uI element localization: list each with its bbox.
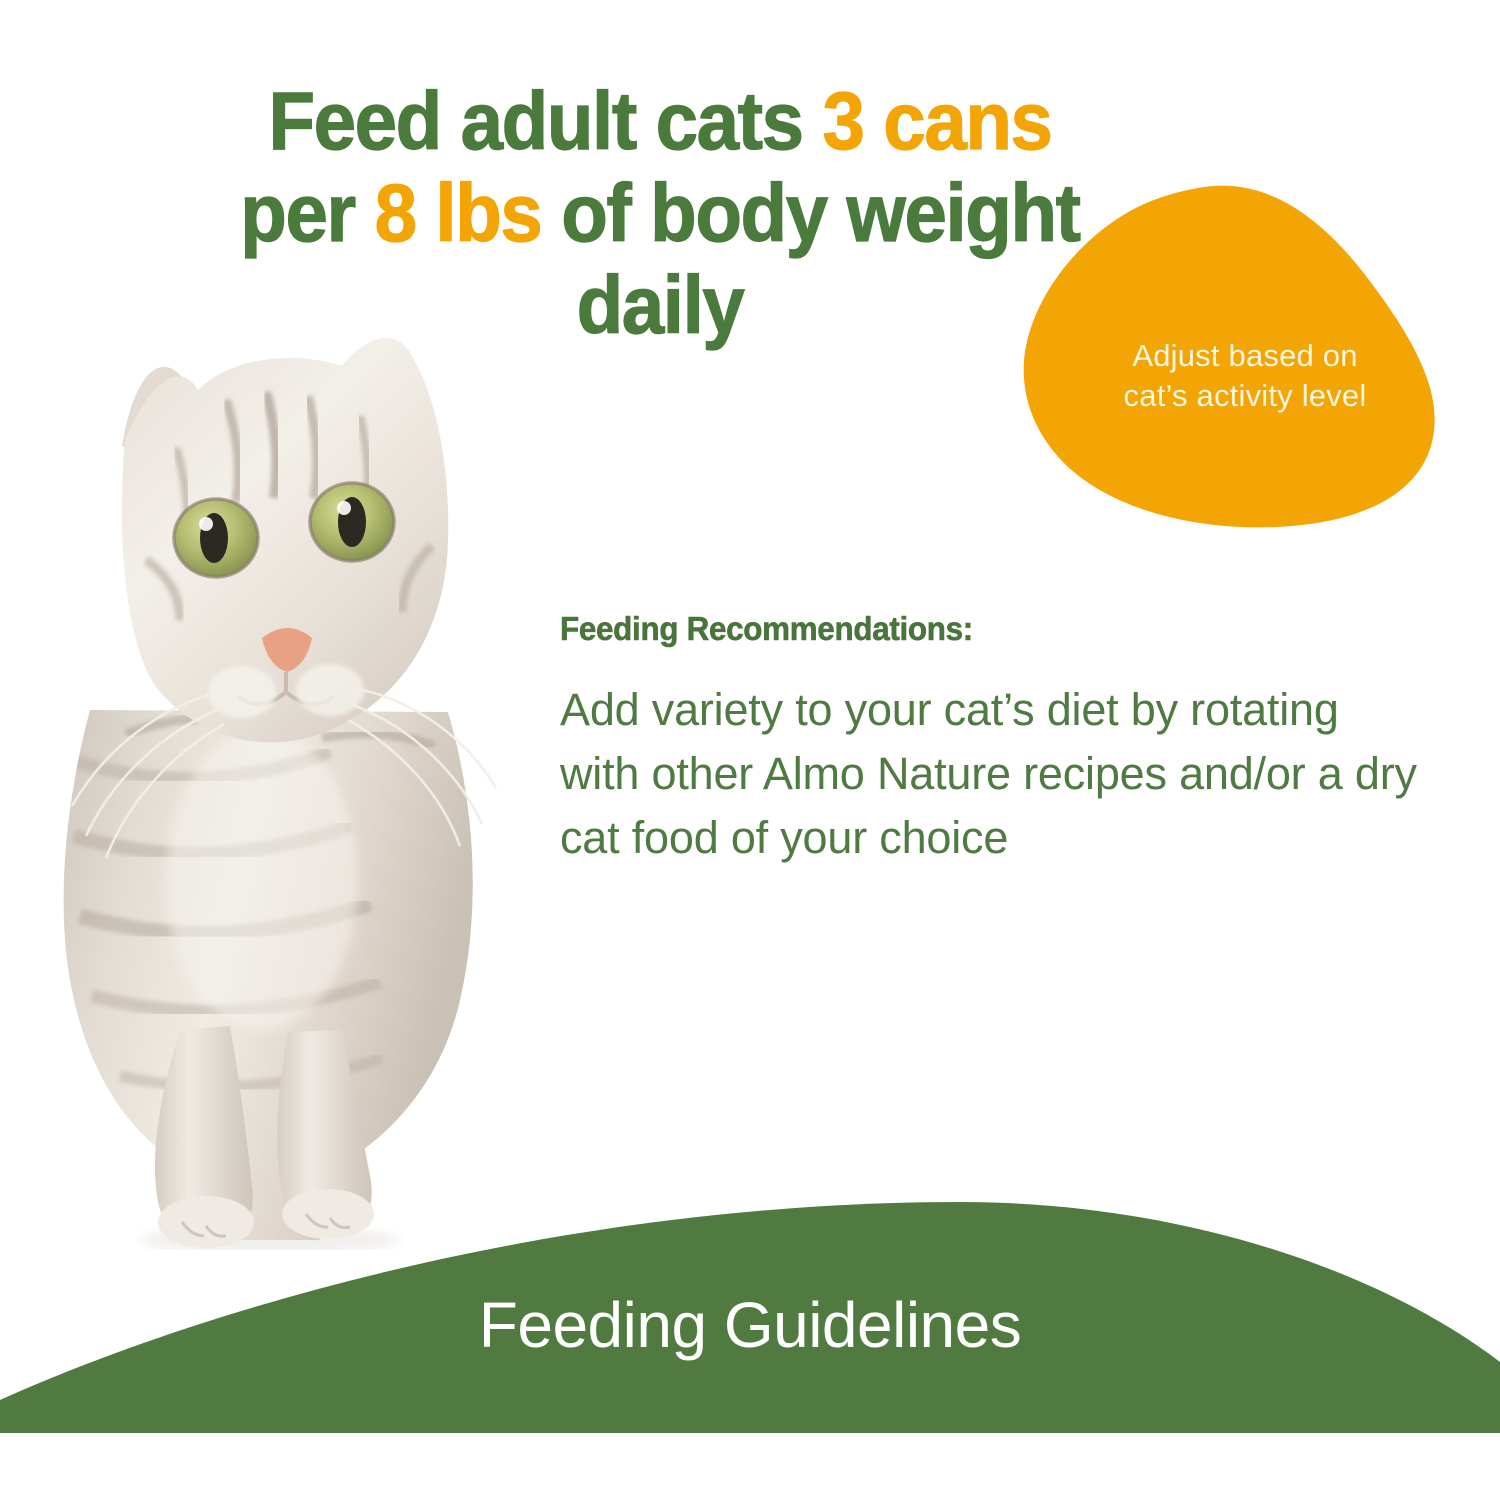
callout-line-2: cat’s activity level [1060,376,1430,416]
infographic-canvas: Feed adult cats 3 cans per 8 lbs of body… [0,0,1500,1500]
callout-line-1: Adjust based on [1060,336,1430,376]
feeding-recommendations-label: Feeding Recommendations: [560,610,973,648]
page-title: Feed adult cats 3 cans per 8 lbs of body… [214,76,1107,352]
headline-part-1: Feed adult cats [268,76,822,167]
headline-highlight-lbs: 8 lbs [375,168,542,259]
headline-highlight-cans: 3 cans [822,76,1051,167]
callout-text: Adjust based on cat’s activity level [1060,336,1430,416]
cat-photo [30,240,530,1250]
headline-part-3: of body weight daily [541,168,1079,351]
cat-body [64,710,473,1240]
footer-title: Feeding Guidelines [0,1288,1500,1362]
cat-eye-right [310,483,394,561]
cat-eye-left [174,499,258,577]
feeding-recommendations-body: Add variety to your cat’s diet by rotati… [560,678,1420,870]
headline-part-2: per [240,168,374,259]
